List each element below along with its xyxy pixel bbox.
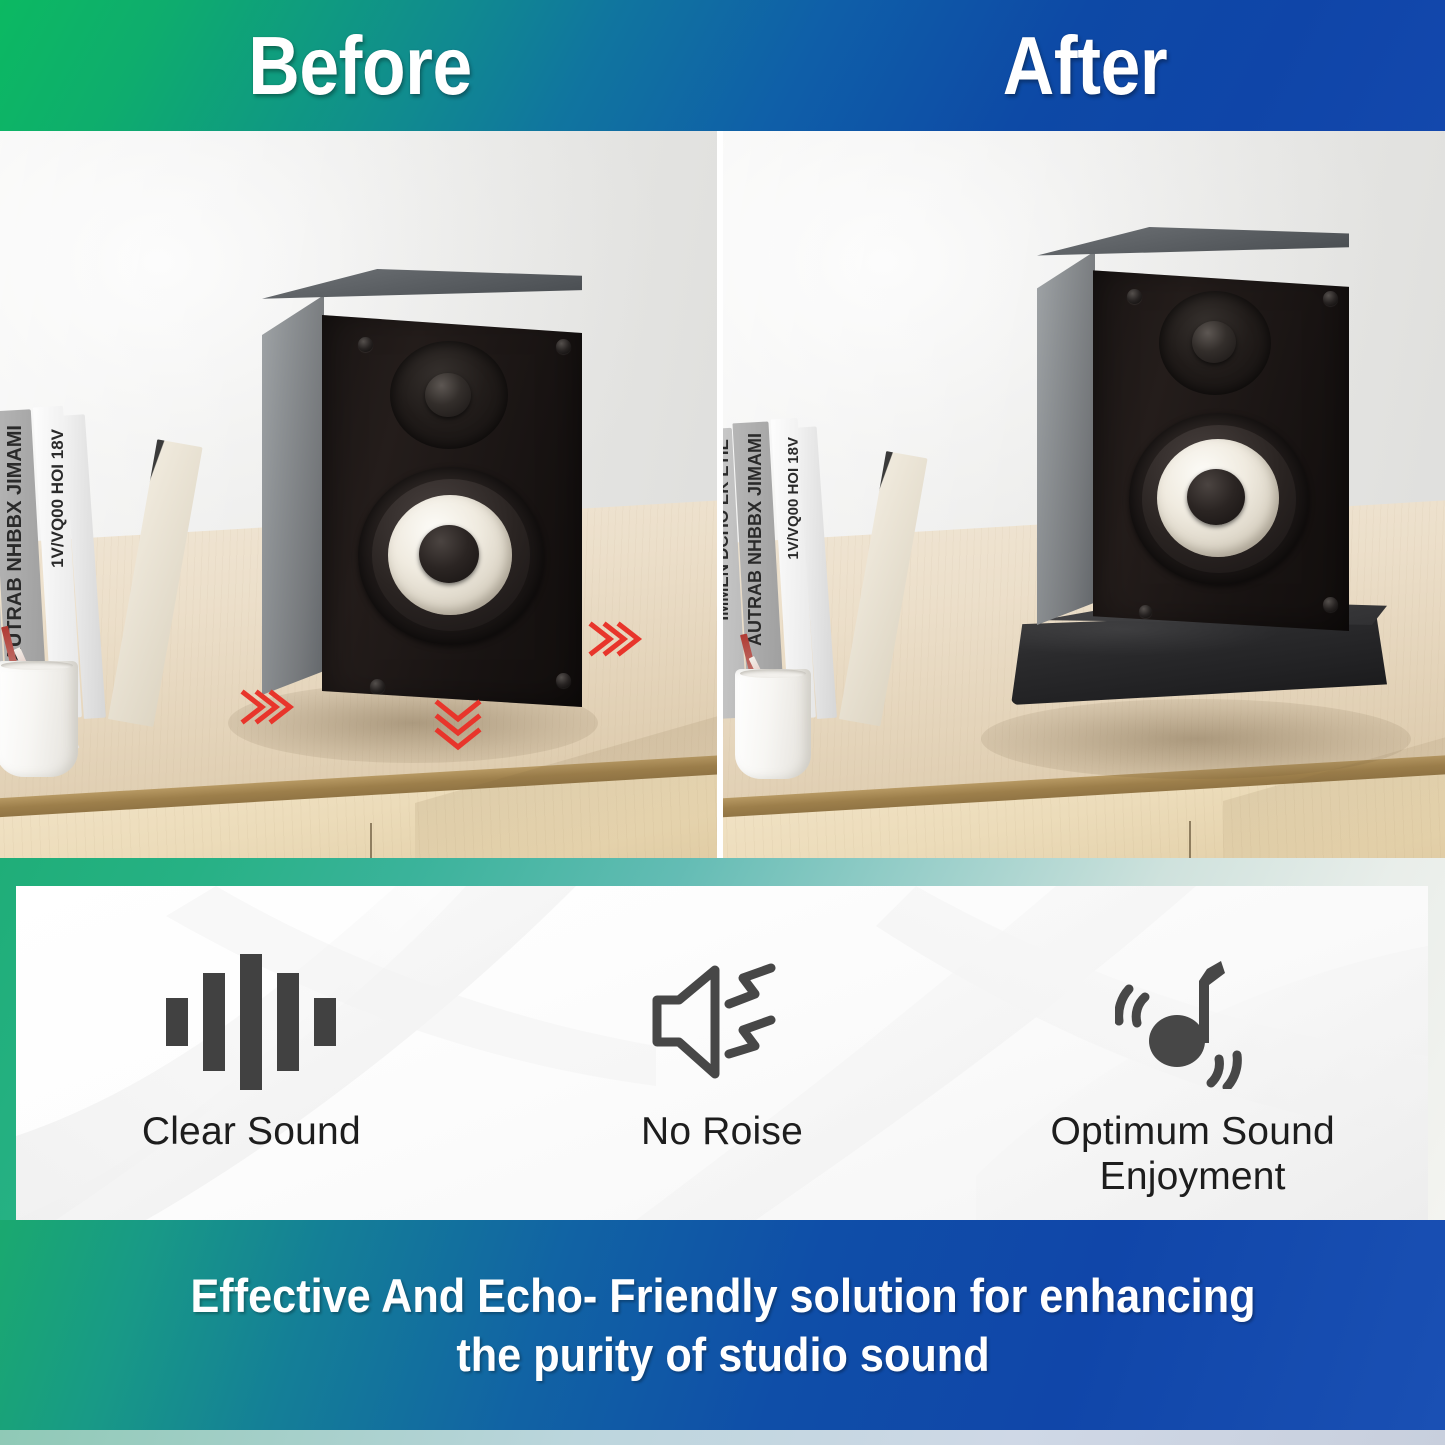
vibration-mark-bottom: [430, 697, 500, 761]
speaker-after: [1037, 227, 1349, 627]
speaker-screw: [556, 339, 571, 354]
speaker-screw: [1139, 605, 1152, 618]
speaker-screw: [358, 337, 373, 352]
drawer-seam: [1189, 821, 1191, 858]
feature-optimum-sound: Optimum Sound Enjoyment: [957, 886, 1428, 1220]
woofer-dust-cap: [419, 525, 479, 583]
vibration-mark-right: [588, 617, 648, 677]
speaker-screw: [1323, 291, 1338, 306]
features-row: Clear Sound No Roise: [16, 886, 1428, 1220]
book-spine-text: AUTRAB NHBBX JIMAMI: [745, 433, 766, 646]
feature-no-roise: No Roise: [487, 886, 958, 1220]
waveform-bar: [314, 998, 336, 1046]
tweeter-dome: [1192, 321, 1236, 363]
waveform-bar: [277, 973, 299, 1071]
music-note-vibration-icon: [1115, 942, 1271, 1102]
after-photo: IMMEN'DCHO EK ETIE AUTRAB NHBBX JIMAMI 1…: [723, 131, 1445, 858]
woofer-dust-cap: [1187, 469, 1245, 525]
waveform-bars-icon: [166, 942, 336, 1102]
speaker-screw: [1127, 289, 1142, 304]
book-item: [839, 451, 928, 726]
pencil-cup: [0, 661, 78, 777]
speaker-screw: [370, 679, 385, 694]
vibration-mark-left: [240, 685, 300, 745]
drawer-seam: [370, 823, 372, 858]
book-spine-text: IMMEN'DCHO EK ETIE: [723, 439, 733, 621]
footer-tagline: Effective And Echo- Friendly solution fo…: [125, 1266, 1321, 1384]
footer-banner: Effective And Echo- Friendly solution fo…: [0, 1220, 1445, 1430]
comparison-photo-strip: IMMEN'DCHO EK ETIE AUTRAB NHBBX JIMAMI 1…: [0, 131, 1445, 858]
muted-speaker-icon: [647, 942, 797, 1102]
after-title: After: [775, 0, 1394, 131]
waveform-bars: [166, 954, 336, 1090]
features-card: Clear Sound No Roise: [16, 886, 1428, 1220]
product-infographic: Before After IMMEN'DCHO EK ETIE AUTRAB N…: [0, 0, 1445, 1445]
bottom-fade-strip: [0, 1430, 1445, 1445]
tweeter-dome: [425, 373, 471, 417]
feature-clear-sound: Clear Sound: [16, 886, 487, 1220]
header-band: Before After: [0, 0, 1445, 131]
speaker-screw: [556, 673, 571, 688]
waveform-bar: [166, 998, 188, 1046]
feature-label: Optimum Sound Enjoyment: [1050, 1110, 1334, 1200]
speaker-screw: [1323, 597, 1338, 612]
feature-label: No Roise: [641, 1110, 803, 1155]
waveform-bar: [240, 954, 262, 1090]
pad-shadow: [981, 699, 1411, 779]
speaker-side-panel: [262, 295, 324, 695]
waveform-bar: [203, 973, 225, 1071]
before-photo: IMMEN'DCHO EK ETIE AUTRAB NHBBX JIMAMI 1…: [0, 131, 717, 858]
feature-label: Clear Sound: [142, 1110, 361, 1155]
speaker-side-panel: [1037, 251, 1095, 625]
speaker-before: [262, 269, 582, 703]
before-title: Before: [50, 0, 669, 131]
pencil-cup: [735, 669, 811, 779]
